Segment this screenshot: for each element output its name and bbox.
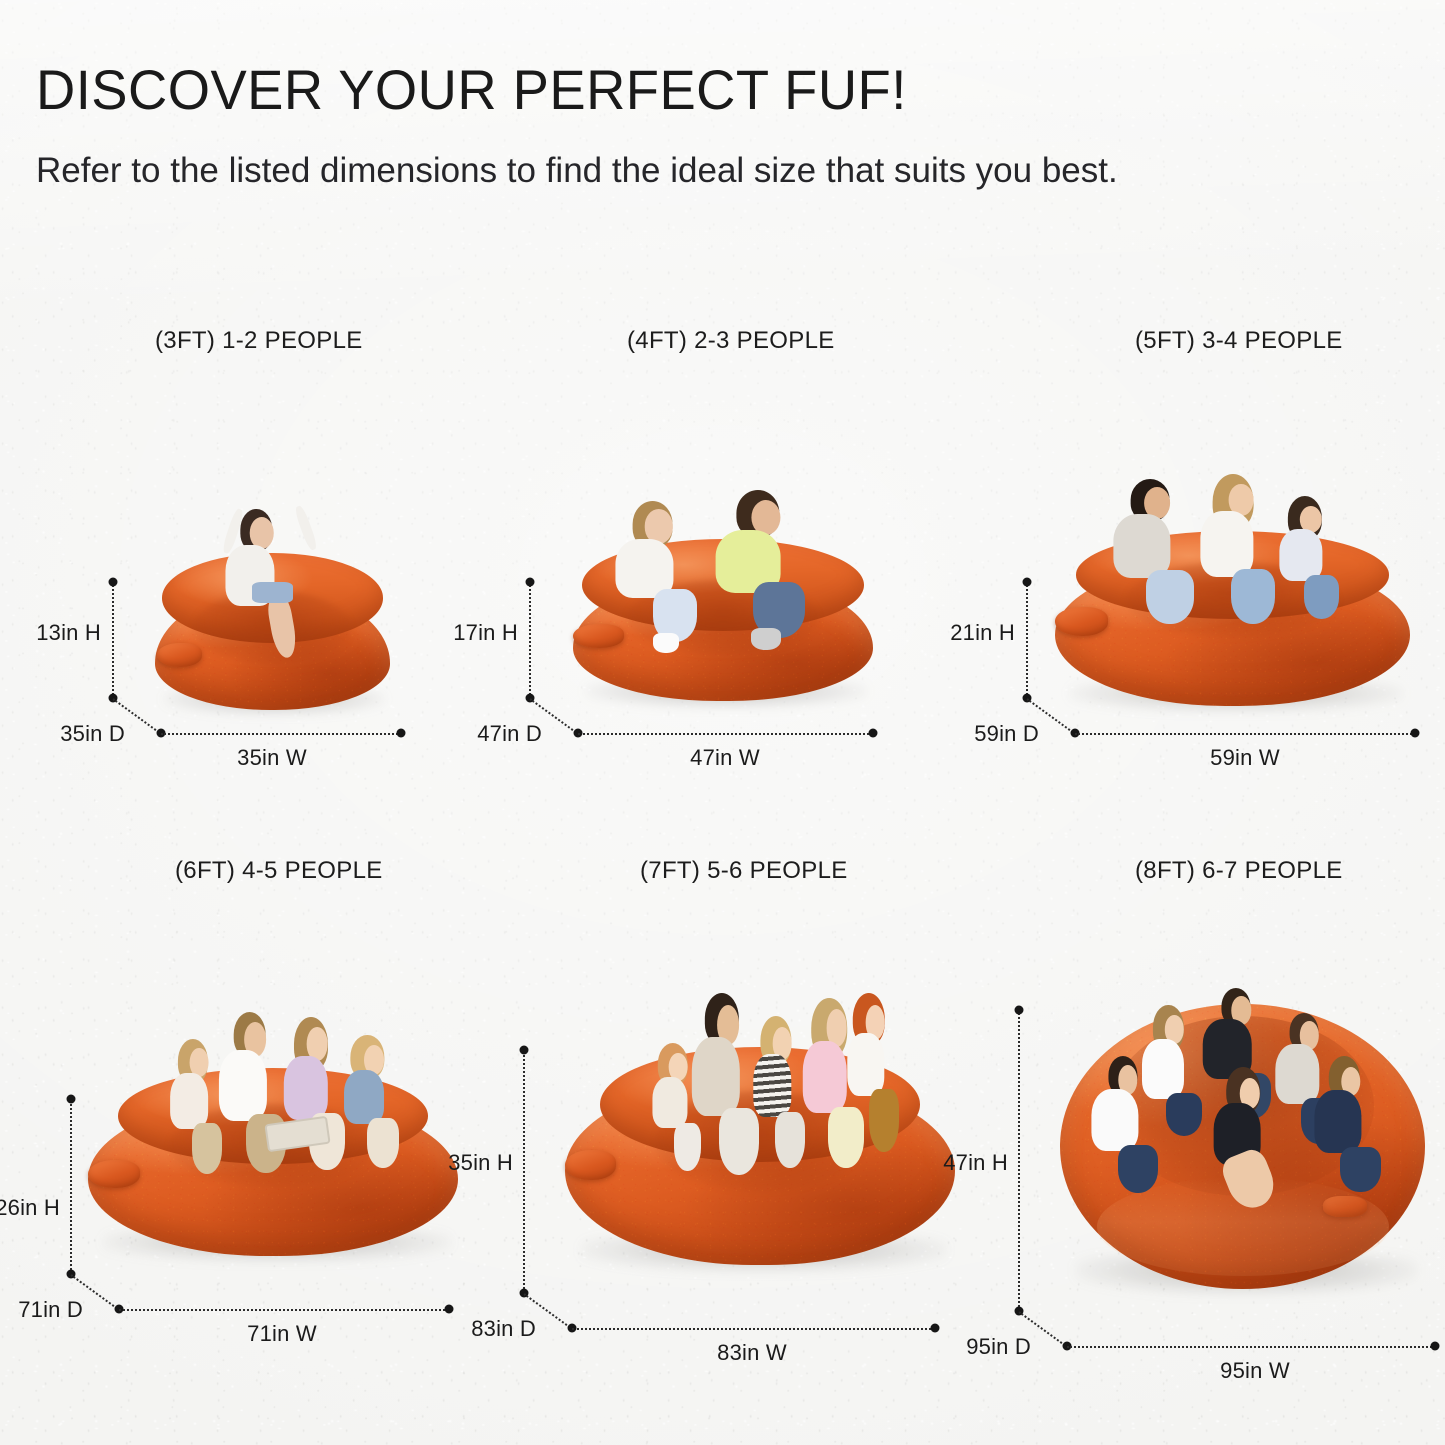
height-line xyxy=(70,1099,72,1274)
height-line xyxy=(1018,1010,1020,1311)
size-card-6ft: (6FT) 4-5 PEOPLE xyxy=(0,530,482,1410)
person-figure xyxy=(1326,1053,1395,1202)
person-torso xyxy=(171,1073,209,1129)
person-torso xyxy=(803,1041,847,1113)
bag-side-handle xyxy=(565,1150,616,1180)
person-figure xyxy=(854,989,916,1164)
bag-side-handle xyxy=(88,1160,140,1188)
height-label: 26in H xyxy=(0,1195,60,1221)
person-figure xyxy=(351,1032,418,1180)
person-torso xyxy=(218,1050,266,1120)
person-torso xyxy=(344,1070,384,1123)
person-legs xyxy=(1340,1147,1380,1192)
person-torso xyxy=(754,1054,791,1117)
height-label: 47in H xyxy=(943,1150,1008,1176)
person-torso xyxy=(691,1037,739,1116)
width-line xyxy=(119,1309,449,1311)
width-label: 71in W xyxy=(247,1321,317,1347)
size-card-7ft: (7FT) 5-6 PEOPLE xyxy=(455,530,955,1410)
person-torso xyxy=(1091,1089,1138,1151)
size-label-4ft: (4FT) 2-3 PEOPLE xyxy=(627,327,835,355)
width-label: 83in W xyxy=(717,1340,787,1366)
width-dot-right xyxy=(445,1305,454,1314)
size-card-8ft: (8FT) 6-7 PEOPLE xyxy=(930,530,1445,1410)
product-photo-6ft xyxy=(88,1060,458,1260)
person-legs xyxy=(719,1108,760,1175)
person-torso xyxy=(1314,1090,1361,1152)
size-label-5ft: (5FT) 3-4 PEOPLE xyxy=(1135,327,1343,355)
width-line xyxy=(1067,1346,1435,1348)
height-line xyxy=(523,1050,525,1293)
person-figure xyxy=(1151,1004,1217,1147)
person-torso xyxy=(847,1033,884,1096)
height-dot-top xyxy=(1015,1006,1024,1015)
width-line xyxy=(572,1328,935,1330)
person-legs xyxy=(1118,1145,1158,1193)
depth-label: 71in D xyxy=(18,1297,83,1323)
person-legs xyxy=(1166,1093,1203,1136)
height-dot-top xyxy=(520,1046,529,1055)
person-torso xyxy=(653,1077,688,1128)
person-legs xyxy=(192,1123,222,1173)
person-torso xyxy=(1142,1039,1184,1099)
size-label-8ft: (8FT) 6-7 PEOPLE xyxy=(1135,857,1343,885)
size-label-3ft: (3FT) 1-2 PEOPLE xyxy=(155,327,363,355)
width-dot-right xyxy=(1431,1342,1440,1351)
person-torso xyxy=(283,1056,327,1120)
person-legs xyxy=(674,1123,701,1171)
person-figure xyxy=(1224,1066,1297,1221)
depth-label: 95in D xyxy=(966,1334,1031,1360)
size-label-6ft: (6FT) 4-5 PEOPLE xyxy=(175,857,383,885)
size-label-7ft: (7FT) 5-6 PEOPLE xyxy=(640,857,848,885)
person-legs xyxy=(367,1118,399,1168)
height-dot-top xyxy=(67,1095,76,1104)
height-label: 35in H xyxy=(448,1150,513,1176)
person-legs xyxy=(869,1089,899,1152)
product-photo-7ft xyxy=(565,1040,955,1270)
depth-label: 83in D xyxy=(471,1316,536,1342)
product-photo-8ft xyxy=(1060,985,1425,1295)
width-label: 95in W xyxy=(1220,1358,1290,1384)
infographic-page: DISCOVER YOUR PERFECT FUF! Refer to the … xyxy=(0,0,1445,1445)
person-legs xyxy=(775,1112,805,1168)
